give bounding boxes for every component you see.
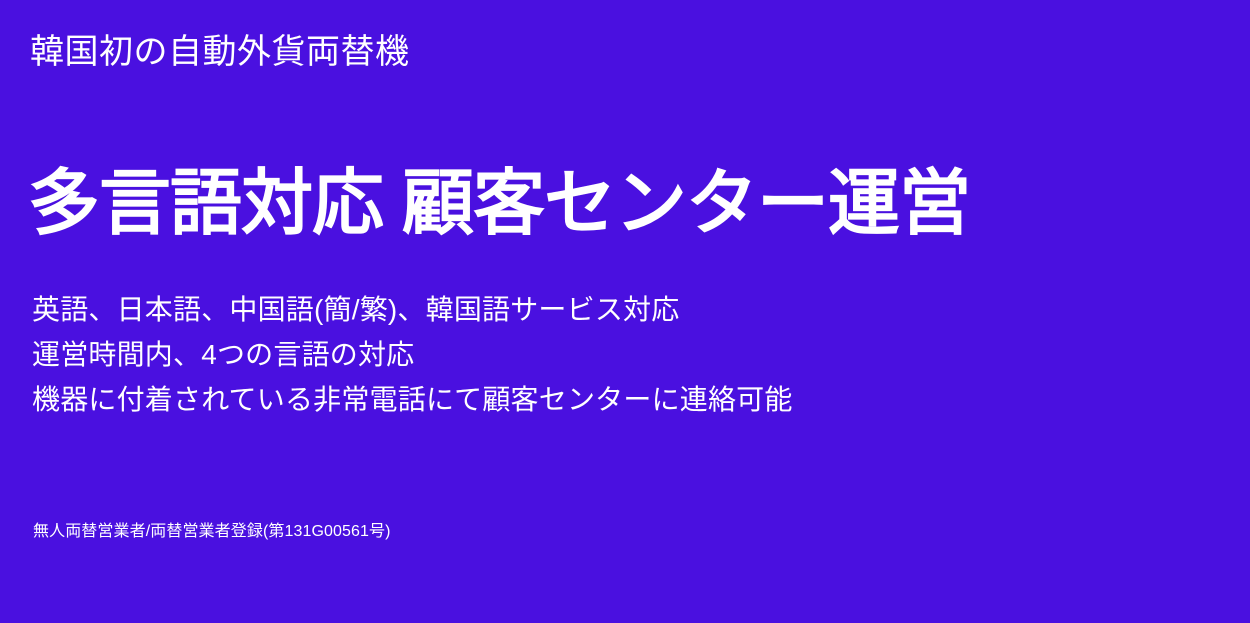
slide-footnote: 無人両替営業者/両替営業者登録(第131G00561号) xyxy=(33,521,391,543)
body-line: 機器に付着されている非常電話にて顧客センターに連絡可能 xyxy=(32,377,793,422)
body-line: 運営時間内、4つの言語の対応 xyxy=(32,332,793,377)
slide-headline: 多言語対応 顧客センター運営 xyxy=(28,158,970,250)
body-line: 英語、日本語、中国語(簡/繁)、韓国語サービス対応 xyxy=(32,287,793,332)
presentation-slide: 韓国初の自動外貨両替機 多言語対応 顧客センター運営 英語、日本語、中国語(簡/… xyxy=(0,0,1250,623)
slide-body-list: 英語、日本語、中国語(簡/繁)、韓国語サービス対応 運営時間内、4つの言語の対応… xyxy=(32,287,793,422)
slide-eyebrow: 韓国初の自動外貨両替機 xyxy=(30,30,410,74)
